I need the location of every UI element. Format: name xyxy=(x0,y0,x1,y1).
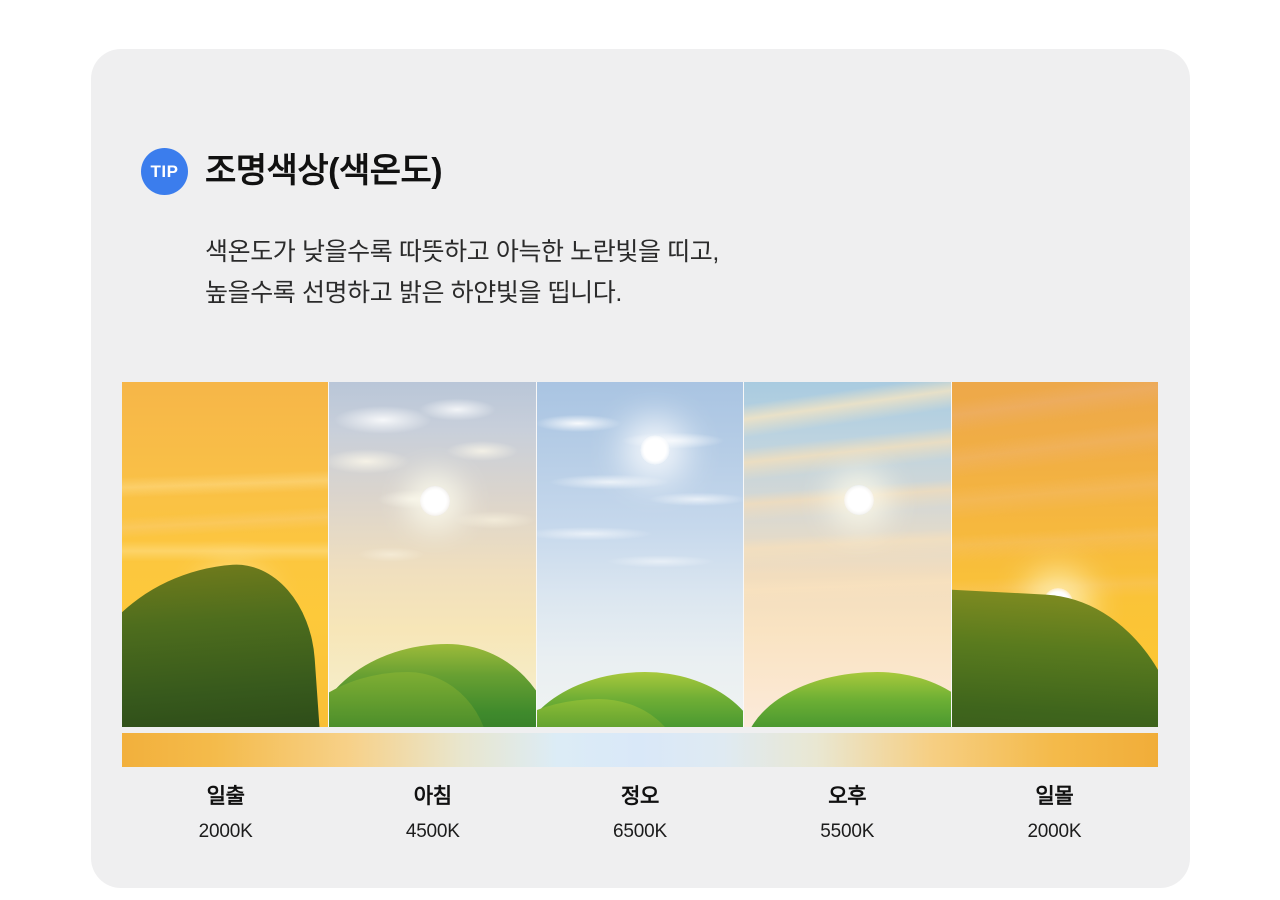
scene-label-row: 일출 2000K 아침 4500K 정오 6500K 오후 5500K 일몰 2… xyxy=(122,784,1158,844)
scene-panel-noon xyxy=(537,382,744,727)
scene-kelvin: 5500K xyxy=(744,820,951,844)
tip-description-line-2: 높을수록 선명하고 밝은 하얀빛을 띱니다. xyxy=(205,273,719,314)
scene-kelvin: 2000K xyxy=(122,820,329,844)
scene-panel-sunrise xyxy=(122,382,329,727)
tip-header: TIP 조명색상(색온도) xyxy=(141,148,442,195)
scene-panel-sunset xyxy=(952,382,1158,727)
scene-label-noon: 정오 6500K xyxy=(536,784,743,844)
sun-icon xyxy=(640,435,670,465)
scene-name: 정오 xyxy=(536,784,743,810)
scene-name: 일몰 xyxy=(951,784,1158,810)
scene-kelvin: 2000K xyxy=(951,820,1158,844)
scene-kelvin: 4500K xyxy=(329,820,536,844)
color-temperature-gradient-bar xyxy=(122,733,1158,767)
scene-name: 일출 xyxy=(122,784,329,810)
scene-label-afternoon: 오후 5500K xyxy=(744,784,951,844)
scene-panel-morning xyxy=(329,382,536,727)
color-temperature-scene-strip xyxy=(122,382,1158,727)
scene-name: 오후 xyxy=(744,784,951,810)
tip-description: 색온도가 낮을수록 따뜻하고 아늑한 노란빛을 띠고, 높을수록 선명하고 밝은… xyxy=(205,232,719,314)
scene-label-sunrise: 일출 2000K xyxy=(122,784,329,844)
tip-badge-icon: TIP xyxy=(141,148,188,195)
scene-label-sunset: 일몰 2000K xyxy=(951,784,1158,844)
scene-name: 아침 xyxy=(329,784,536,810)
tip-badge-label: TIP xyxy=(151,163,179,180)
tip-description-line-1: 색온도가 낮을수록 따뜻하고 아늑한 노란빛을 띠고, xyxy=(205,232,719,273)
scene-kelvin: 6500K xyxy=(536,820,743,844)
scene-panel-afternoon xyxy=(744,382,951,727)
page-title: 조명색상(색온도) xyxy=(205,153,442,190)
scene-label-morning: 아침 4500K xyxy=(329,784,536,844)
tip-card: TIP 조명색상(색온도) 색온도가 낮을수록 따뜻하고 아늑한 노란빛을 띠고… xyxy=(91,49,1190,888)
